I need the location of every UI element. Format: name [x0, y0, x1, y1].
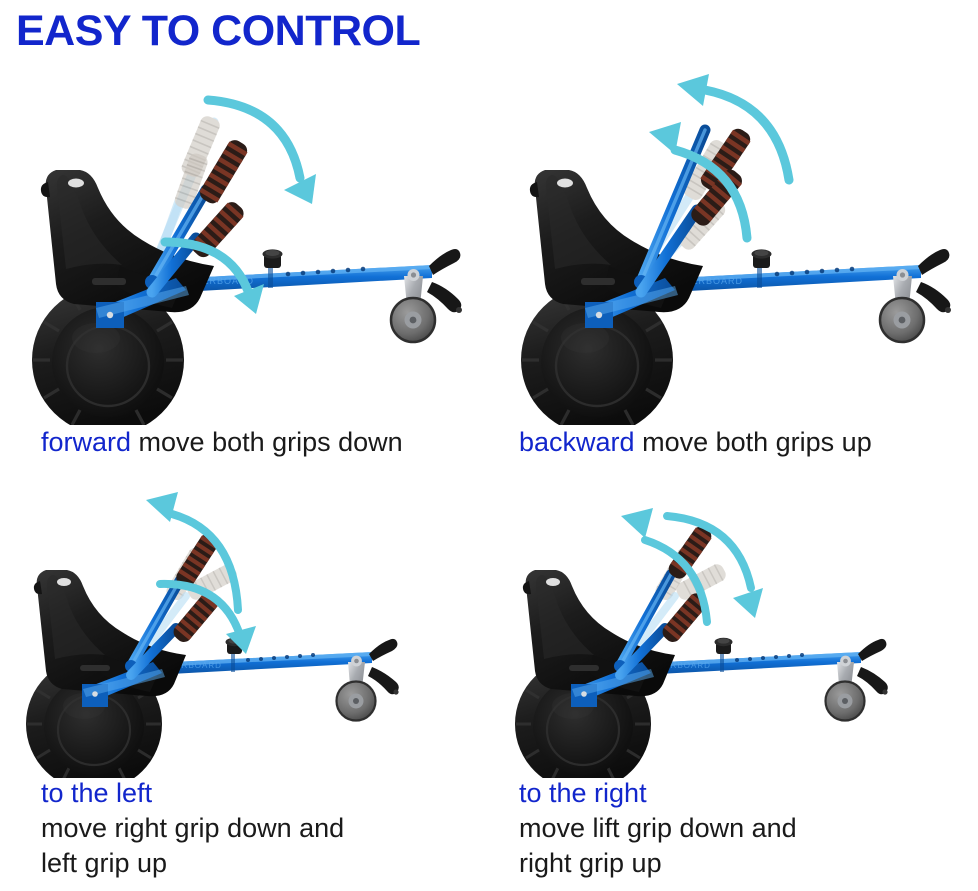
caption-backward: backward move both grips up: [489, 427, 978, 458]
caption-description: move both grips up: [642, 427, 872, 457]
figure-backward: HOVERBOARD: [489, 70, 978, 425]
panel-left: HOVERBOARD: [0, 488, 489, 891]
arrow-head-up: [621, 508, 653, 538]
caster-wheel: [337, 656, 376, 721]
footrest-peg-upper: [369, 639, 397, 661]
adjustment-knob: [263, 249, 283, 268]
adjustment-knob: [715, 638, 733, 654]
caption-line-1: move lift grip down and: [519, 811, 978, 846]
caption-keyword: to the left: [41, 776, 489, 811]
panel-backward: HOVERBOARD: [489, 70, 978, 485]
figure-forward: HOVERBOARD: [0, 70, 489, 425]
caster-wheel: [880, 269, 924, 342]
arrow-head-down: [733, 588, 763, 618]
page-root: EASY TO CONTROL: [0, 0, 978, 891]
footrest-peg-upper: [429, 249, 460, 275]
figure-left: HOVERBOARD: [0, 488, 489, 778]
page-title: EASY TO CONTROL: [16, 10, 420, 53]
arrow-head-upper: [677, 74, 709, 106]
adjustment-knob: [752, 249, 772, 268]
panel-right: HOVERBOARD: [489, 488, 978, 891]
footrest-peg-upper: [858, 639, 886, 661]
caster-wheel: [391, 269, 435, 342]
caption-keyword: backward: [519, 427, 635, 457]
footrest-peg-upper: [918, 249, 949, 275]
caption-forward: forward move both grips down: [0, 427, 489, 458]
caption-right: to the right move lift grip down and rig…: [489, 776, 978, 881]
caster-wheel: [826, 656, 865, 721]
caption-keyword: to the right: [519, 776, 978, 811]
caption-description: move both grips down: [139, 427, 403, 457]
panel-forward: HOVERBOARD: [0, 70, 489, 485]
caption-line-1: move right grip down and: [41, 811, 489, 846]
caption-line-2: left grip up: [41, 846, 489, 881]
caption-keyword: forward: [41, 427, 131, 457]
caption-line-2: right grip up: [519, 846, 978, 881]
figure-right: HOVERBOARD: [489, 488, 978, 778]
caption-left: to the left move right grip down and lef…: [0, 776, 489, 881]
